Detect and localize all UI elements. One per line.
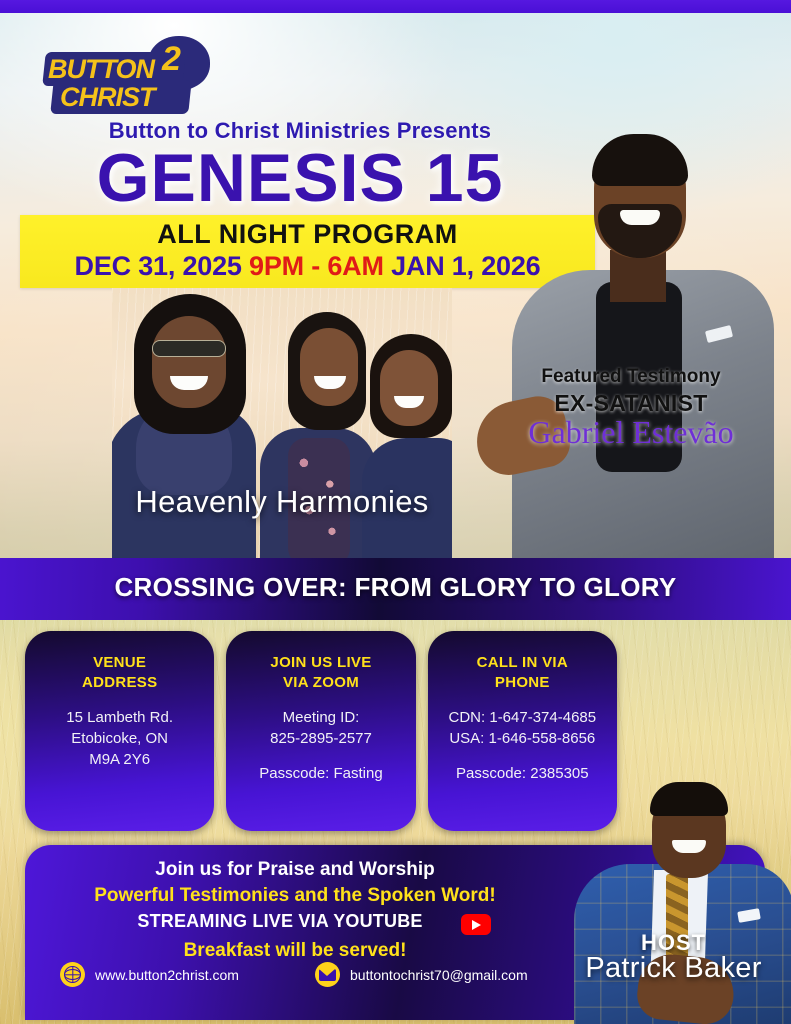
testimony-hair xyxy=(592,134,688,186)
theme-banner: CROSSING OVER: FROM GLORY TO GLORY xyxy=(0,558,791,620)
youtube-icon[interactable] xyxy=(461,914,491,935)
envelope-icon xyxy=(315,962,340,987)
promo-line-1: Join us for Praise and Worship xyxy=(25,859,565,881)
venue-street: 15 Lambeth Rd. xyxy=(31,707,208,728)
zoom-card[interactable]: JOIN US LIVE VIA ZOOM Meeting ID: 825-28… xyxy=(226,631,415,831)
envelope-body xyxy=(319,969,336,981)
host-hair xyxy=(650,782,728,816)
contact-row: www.button2christ.com buttontochrist70@g… xyxy=(55,962,555,996)
singer-one-sunglasses xyxy=(152,340,226,357)
phone-card-body: CDN: 1-647-374-4685 USA: 1-646-558-8656 xyxy=(434,707,611,749)
button2christ-logo[interactable]: BUTTON 2 CHRIST xyxy=(22,36,192,114)
testimony-smile xyxy=(620,210,660,225)
website-contact[interactable]: www.button2christ.com xyxy=(60,962,239,987)
featured-descriptor: EX-SATANIST xyxy=(471,390,791,417)
venue-title-line1: VENUE xyxy=(31,653,208,673)
globe-equator xyxy=(64,969,81,980)
theme-banner-text: CROSSING OVER: FROM GLORY TO GLORY xyxy=(0,572,791,603)
zoom-title-line1: JOIN US LIVE xyxy=(232,653,409,673)
promo-line-2: Powerful Testimonies and the Spoken Word… xyxy=(25,885,565,907)
phone-card-title: CALL IN VIA PHONE xyxy=(434,653,611,693)
host-smile xyxy=(672,840,706,853)
venue-city: Etobicoke, ON xyxy=(31,728,208,749)
zoom-card-body: Meeting ID: 825-2895-2577 xyxy=(232,707,409,749)
singer-one-face xyxy=(152,316,226,408)
venue-card-title: VENUE ADDRESS xyxy=(31,653,208,693)
event-flyer: BUTTON 2 CHRIST Button to Christ Ministr… xyxy=(0,0,791,1024)
host-photo xyxy=(556,778,791,1024)
logo-text-line2: CHRIST xyxy=(60,81,200,113)
zoom-meeting-id-value: 825-2895-2577 xyxy=(232,728,409,749)
zoom-card-title: JOIN US LIVE VIA ZOOM xyxy=(232,653,409,693)
phone-title-line2: PHONE xyxy=(434,673,611,693)
featured-testimony-photo xyxy=(470,100,791,560)
venue-card[interactable]: VENUE ADDRESS 15 Lambeth Rd. Etobicoke, … xyxy=(25,631,214,831)
youtube-play-triangle xyxy=(472,920,481,930)
logo-numeral: 2 xyxy=(162,42,181,76)
info-cards: VENUE ADDRESS 15 Lambeth Rd. Etobicoke, … xyxy=(25,631,617,831)
website-text: www.button2christ.com xyxy=(95,967,239,983)
email-contact[interactable]: buttontochrist70@gmail.com xyxy=(315,962,528,987)
venue-postal: M9A 2Y6 xyxy=(31,749,208,770)
time-range: 9PM - 6AM xyxy=(249,251,384,281)
zoom-title-line2: VIA ZOOM xyxy=(232,673,409,693)
globe-icon xyxy=(60,962,85,987)
venue-title-line2: ADDRESS xyxy=(31,673,208,693)
featured-label: Featured Testimony xyxy=(471,366,791,388)
venue-card-body: 15 Lambeth Rd. Etobicoke, ON M9A 2Y6 xyxy=(31,707,208,770)
choir-name-label: Heavenly Harmonies xyxy=(112,484,452,520)
promo-line-4: Breakfast will be served! xyxy=(25,940,565,962)
phone-title-line1: CALL IN VIA xyxy=(434,653,611,673)
phone-number-cdn: CDN: 1-647-374-4685 xyxy=(434,707,611,728)
email-text: buttontochrist70@gmail.com xyxy=(350,967,528,983)
zoom-meeting-id-label: Meeting ID: xyxy=(232,707,409,728)
singer-two-face xyxy=(300,328,358,406)
date-start: DEC 31, 2025 xyxy=(75,251,242,281)
phone-number-usa: USA: 1-646-558-8656 xyxy=(434,728,611,749)
zoom-passcode: Passcode: Fasting xyxy=(232,763,409,784)
featured-name: Gabriel Estevão xyxy=(471,414,791,451)
top-accent-bar xyxy=(0,0,791,13)
host-name: Patrick Baker xyxy=(556,952,791,985)
singer-three-face xyxy=(380,350,438,426)
